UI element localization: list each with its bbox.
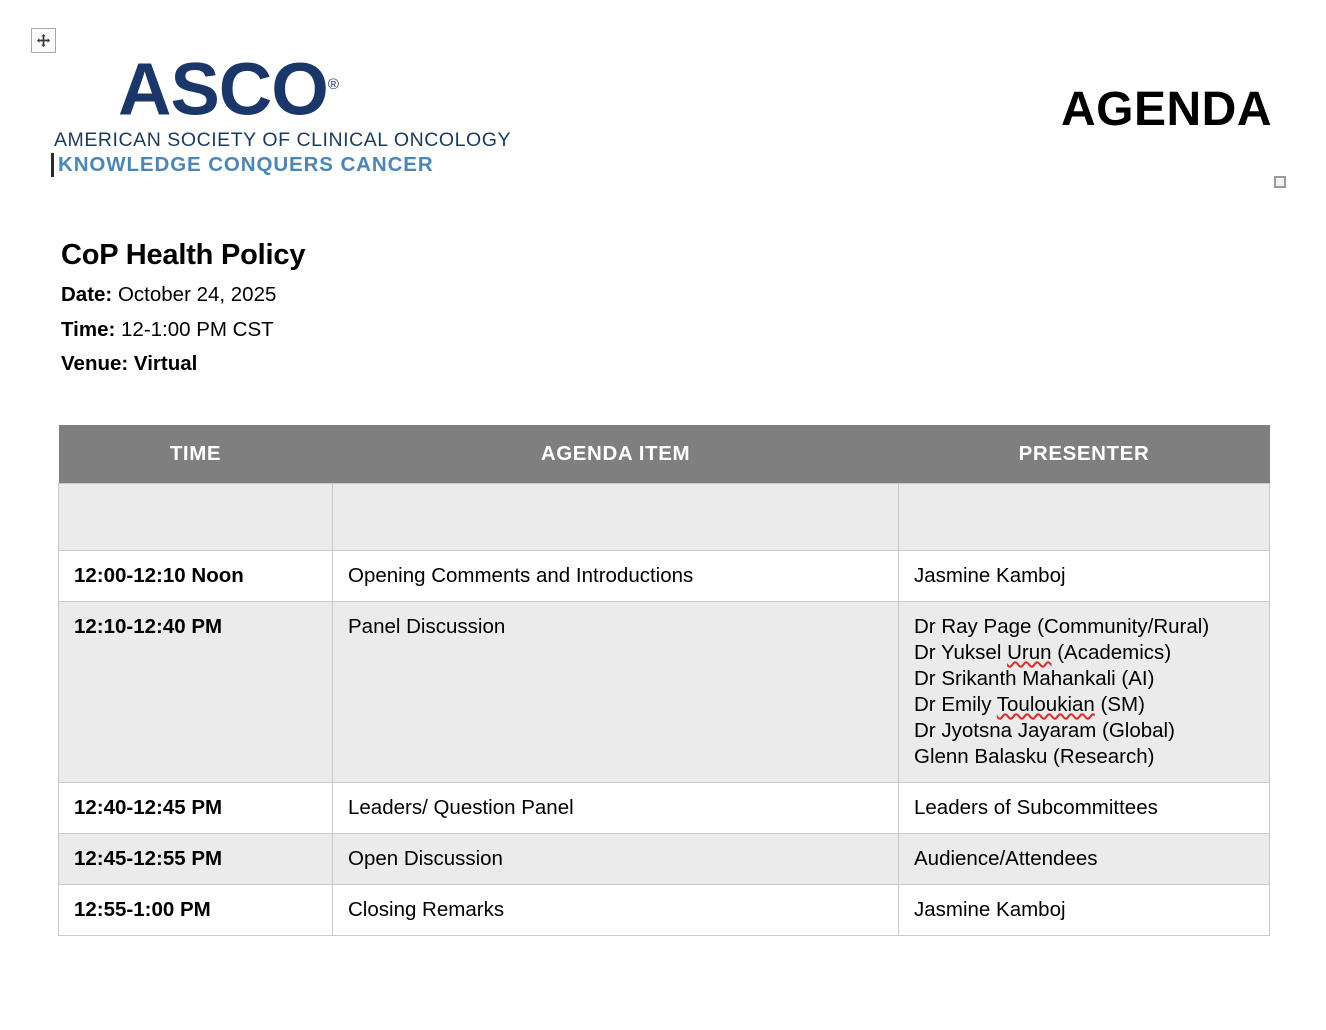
meeting-date-value: October 24, 2025 <box>118 283 276 306</box>
presenter-list-item: Glenn Balasku (Research) <box>914 744 1255 770</box>
agenda-table: TIME AGENDA ITEM PRESENTER 12:00-12:10 N… <box>58 425 1270 936</box>
column-header-agenda-item: AGENDA ITEM <box>333 425 899 484</box>
meeting-time-label: Time: <box>61 318 115 341</box>
agenda-table-body: 12:00-12:10 NoonOpening Comments and Int… <box>59 484 1270 936</box>
presenter-list-item: Dr Jyotsna Jayaram (Global) <box>914 718 1255 744</box>
resize-square-icon[interactable] <box>1274 176 1286 188</box>
meeting-date-label: Date: <box>61 283 112 306</box>
cell-time: 12:00-12:10 Noon <box>59 551 333 602</box>
table-row: 12:10-12:40 PMPanel DiscussionDr Ray Pag… <box>59 602 1270 783</box>
table-cell-empty <box>59 484 333 551</box>
table-header-row: TIME AGENDA ITEM PRESENTER <box>59 425 1270 484</box>
presenter-list-item: Dr Ray Page (Community/Rural) <box>914 614 1255 640</box>
presenter-list-item: Dr Emily Touloukian (SM) <box>914 692 1255 718</box>
move-4way-icon <box>36 33 51 48</box>
meeting-time-value: 12-1:00 PM CST <box>121 318 274 341</box>
cell-time: 12:10-12:40 PM <box>59 602 333 783</box>
table-spacer-row <box>59 484 1270 551</box>
cell-presenter: Audience/Attendees <box>899 834 1270 885</box>
table-cell-empty <box>899 484 1270 551</box>
meeting-time-line: Time: 12-1:00 PM CST <box>61 313 761 348</box>
column-header-time: TIME <box>59 425 333 484</box>
table-row: 12:00-12:10 NoonOpening Comments and Int… <box>59 551 1270 602</box>
cell-agenda-item: Closing Remarks <box>333 885 899 936</box>
meeting-venue-line: Venue: Virtual <box>61 347 761 382</box>
asco-logo-line1: AMERICAN SOCIETY OF CLINICAL ONCOLOGY <box>52 129 472 152</box>
cell-time: 12:40-12:45 PM <box>59 783 333 834</box>
cell-presenter: Leaders of Subcommittees <box>899 783 1270 834</box>
meeting-venue-label: Venue: <box>61 352 128 375</box>
meeting-title: CoP Health Policy <box>61 238 761 272</box>
cell-presenter: Jasmine Kamboj <box>899 885 1270 936</box>
cell-agenda-item: Panel Discussion <box>333 602 899 783</box>
table-row: 12:55-1:00 PMClosing RemarksJasmine Kamb… <box>59 885 1270 936</box>
column-header-presenter: PRESENTER <box>899 425 1270 484</box>
cell-agenda-item: Leaders/ Question Panel <box>333 783 899 834</box>
cell-presenter: Dr Ray Page (Community/Rural)Dr Yuksel U… <box>899 602 1270 783</box>
asco-logo-line2: KNOWLEDGE CONQUERS CANCER <box>51 153 472 177</box>
cell-presenter: Jasmine Kamboj <box>899 551 1270 602</box>
table-row: 12:40-12:45 PMLeaders/ Question PanelLea… <box>59 783 1270 834</box>
asco-wordmark-text: ASCO <box>118 48 328 131</box>
cell-time: 12:45-12:55 PM <box>59 834 333 885</box>
meeting-date-line: Date: October 24, 2025 <box>61 278 761 313</box>
presenter-list-item: Dr Yuksel Urun (Academics) <box>914 640 1255 666</box>
cell-agenda-item: Opening Comments and Introductions <box>333 551 899 602</box>
table-cell-empty <box>333 484 899 551</box>
presenter-list-item: Dr Srikanth Mahankali (AI) <box>914 666 1255 692</box>
table-row: 12:45-12:55 PMOpen DiscussionAudience/At… <box>59 834 1270 885</box>
registered-trademark-icon: ® <box>328 76 339 93</box>
presenter-list: Dr Ray Page (Community/Rural)Dr Yuksel U… <box>914 614 1255 770</box>
asco-logo: ASCO® AMERICAN SOCIETY OF CLINICAL ONCOL… <box>52 48 472 177</box>
meeting-info-block: CoP Health Policy Date: October 24, 2025… <box>61 238 761 382</box>
misspelled-word: Touloukian <box>997 693 1095 716</box>
cell-time: 12:55-1:00 PM <box>59 885 333 936</box>
agenda-table-head: TIME AGENDA ITEM PRESENTER <box>59 425 1270 484</box>
cell-agenda-item: Open Discussion <box>333 834 899 885</box>
meeting-venue-value: Virtual <box>134 352 197 375</box>
asco-wordmark: ASCO® <box>52 48 339 127</box>
misspelled-word: Urun <box>1007 641 1051 664</box>
page-title: AGENDA <box>1061 84 1272 136</box>
